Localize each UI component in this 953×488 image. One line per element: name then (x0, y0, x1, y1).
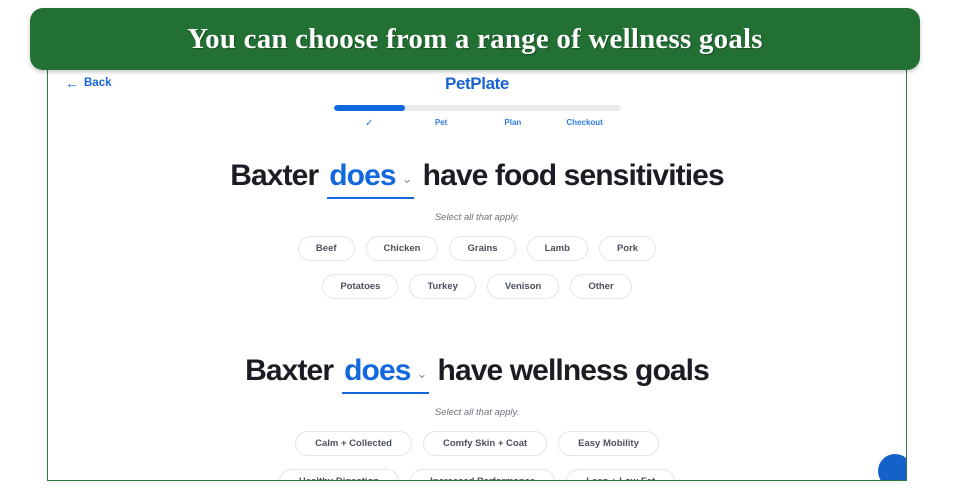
food-sensitivities-question: Baxter does ⌄ have food sensitivities (48, 159, 906, 199)
wellness-goals-section: Baxter does ⌄ have wellness goals Select… (48, 354, 906, 481)
step-plan[interactable]: Plan (477, 118, 549, 129)
chip-calm-collected[interactable]: Calm + Collected (295, 431, 412, 456)
chat-widget-button[interactable] (878, 454, 907, 481)
food-chip-row-2: Potatoes Turkey Venison Other (48, 274, 906, 299)
progress-steps: ✓ Pet Plan Checkout (334, 118, 621, 129)
question-tail: have wellness goals (438, 354, 709, 388)
chip-healthy-digestion[interactable]: Healthy Digestion (279, 469, 399, 481)
dropdown-value: does (329, 159, 395, 193)
headline-text: You can choose from a range of wellness … (187, 23, 763, 56)
food-chip-row-1: Beef Chicken Grains Lamb Pork (48, 236, 906, 261)
chip-easy-mobility[interactable]: Easy Mobility (558, 431, 659, 456)
chip-grains[interactable]: Grains (449, 236, 515, 261)
progress-track (334, 105, 621, 111)
chip-beef[interactable]: Beef (298, 236, 355, 261)
chip-increased-performance[interactable]: Increased Performance (410, 469, 555, 481)
chevron-down-icon: ⌄ (402, 172, 412, 185)
headline-banner: You can choose from a range of wellness … (30, 8, 920, 70)
step-checkout[interactable]: Checkout (549, 118, 621, 129)
food-sensitivities-subtext: Select all that apply. (48, 212, 906, 223)
wellness-chip-row-2: Healthy Digestion Increased Performance … (48, 469, 906, 481)
chip-potatoes[interactable]: Potatoes (322, 274, 398, 299)
chip-venison[interactable]: Venison (487, 274, 559, 299)
pet-name: Baxter (245, 354, 333, 388)
wellness-goals-dropdown[interactable]: does ⌄ (342, 354, 428, 394)
food-sensitivities-section: Baxter does ⌄ have food sensitivities Se… (48, 159, 906, 299)
chevron-down-icon: ⌄ (417, 367, 427, 380)
question-tail: have food sensitivities (423, 159, 724, 193)
food-sensitivities-dropdown[interactable]: does ⌄ (327, 159, 413, 199)
wellness-goals-subtext: Select all that apply. (48, 407, 906, 418)
chip-chicken[interactable]: Chicken (366, 236, 439, 261)
chip-lean-low-fat[interactable]: Lean + Low Fat (566, 469, 675, 481)
checkout-progress: ✓ Pet Plan Checkout (334, 103, 621, 129)
chip-other-food[interactable]: Other (570, 274, 631, 299)
screenshot-frame: ← Back PetPlate ✓ Pet Plan Checkout Baxt… (47, 62, 907, 481)
progress-fill (334, 105, 406, 111)
step-complete[interactable]: ✓ (334, 118, 406, 129)
pet-name: Baxter (230, 159, 318, 193)
brand-logo[interactable]: PetPlate (48, 74, 906, 94)
step-pet[interactable]: Pet (405, 118, 477, 129)
chip-lamb[interactable]: Lamb (527, 236, 588, 261)
dropdown-value: does (344, 354, 410, 388)
wellness-chip-row-1: Calm + Collected Comfy Skin + Coat Easy … (48, 431, 906, 456)
wellness-goals-question: Baxter does ⌄ have wellness goals (48, 354, 906, 394)
chip-turkey[interactable]: Turkey (409, 274, 475, 299)
chip-comfy-skin-coat[interactable]: Comfy Skin + Coat (423, 431, 547, 456)
chip-pork[interactable]: Pork (599, 236, 656, 261)
